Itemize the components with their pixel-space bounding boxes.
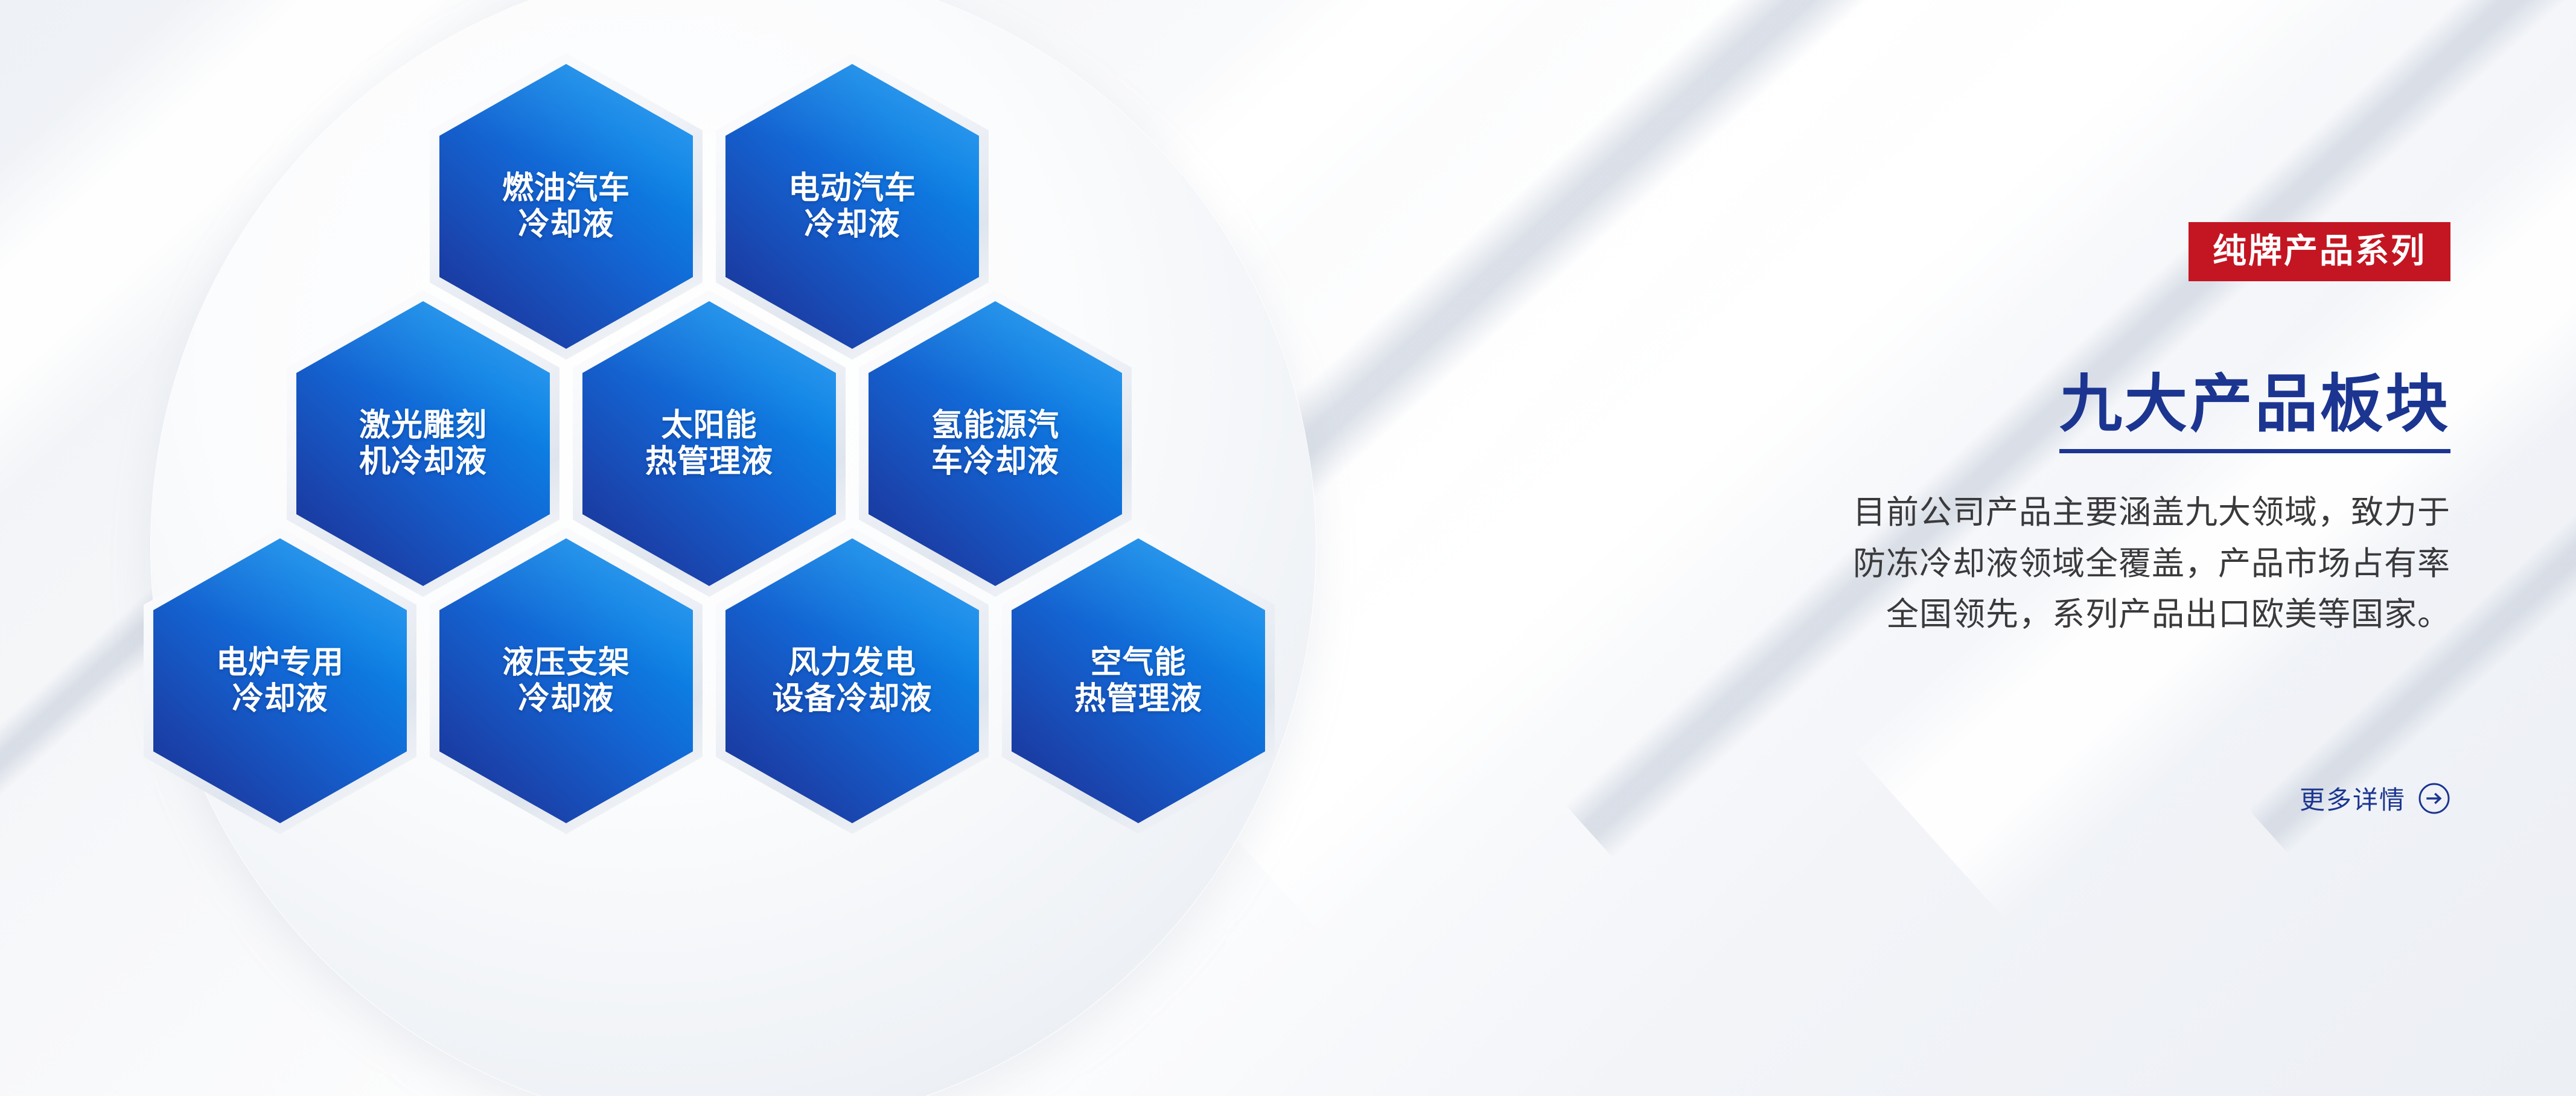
hex-tile-label-line: 冷却液 [518, 681, 614, 717]
hex-tile-label-line: 电动汽车 [788, 170, 916, 206]
page-title-block: 九大产品板块 [2059, 371, 2450, 453]
arrow-right-circle-icon [2418, 782, 2450, 815]
hex-tile-label-line: 燃油汽车 [502, 170, 630, 206]
title-underline [2059, 449, 2450, 453]
hex-tile-label-line: 液压支架 [502, 645, 630, 681]
hex-tile-label-line: 太阳能 [661, 407, 757, 444]
hex-tile-hydraulic-support-coolant[interactable]: 液压支架冷却液 [430, 527, 703, 834]
hex-tile-label-line: 热管理液 [1074, 681, 1202, 717]
description-text: 目前公司产品主要涵盖九大领域，致力于 防冻冷却液领域全覆盖，产品市场占有率 全国… [1853, 487, 2450, 640]
hex-tile-label-line: 车冷却液 [931, 444, 1059, 480]
hex-tile-label: 液压支架冷却液 [430, 527, 703, 834]
hex-tile-electric-furnace-coolant[interactable]: 电炉专用冷却液 [144, 527, 416, 834]
info-panel: 纯牌产品系列 九大产品板块 目前公司产品主要涵盖九大领域，致力于 防冻冷却液领域… [1509, 0, 2450, 1096]
hex-tile-label-line: 氢能源汽 [931, 407, 1059, 444]
hex-tile-label-line: 设备冷却液 [772, 681, 932, 717]
series-badge: 纯牌产品系列 [2189, 222, 2450, 281]
page-title: 九大产品板块 [2059, 371, 2450, 438]
description-line-1: 目前公司产品主要涵盖九大领域，致力于 [1853, 487, 2450, 538]
hex-tile-air-energy-thermal-fluid[interactable]: 空气能热管理液 [1002, 527, 1275, 834]
hex-tile-label-line: 激光雕刻 [359, 407, 487, 444]
hex-tile-label-line: 风力发电 [788, 645, 916, 681]
hex-tile-label-line: 机冷却液 [359, 444, 487, 480]
description-line-3: 全国领先，系列产品出口欧美等国家。 [1853, 589, 2450, 640]
hex-tile-label-line: 空气能 [1090, 645, 1186, 681]
hex-tile-label-line: 冷却液 [804, 206, 900, 243]
more-details-link[interactable]: 更多详情 [2300, 780, 2450, 817]
hex-tile-label-line: 冷却液 [518, 206, 614, 243]
hex-tile-label-line: 冷却液 [232, 681, 328, 717]
hex-tile-label: 电炉专用冷却液 [144, 527, 416, 834]
more-details-label: 更多详情 [2300, 780, 2406, 817]
hex-tile-label: 空气能热管理液 [1002, 527, 1275, 834]
hex-tile-wind-power-equipment-coolant[interactable]: 风力发电设备冷却液 [716, 527, 989, 834]
hex-tile-label-line: 热管理液 [645, 444, 773, 480]
hex-tile-label: 风力发电设备冷却液 [716, 527, 989, 834]
description-line-2: 防冻冷却液领域全覆盖，产品市场占有率 [1853, 538, 2450, 589]
product-hex-grid: 燃油汽车冷却液电动汽车冷却液激光雕刻机冷却液太阳能热管理液氢能源汽车冷却液电炉专… [0, 0, 1461, 1096]
hex-tile-label-line: 电炉专用 [216, 645, 344, 681]
